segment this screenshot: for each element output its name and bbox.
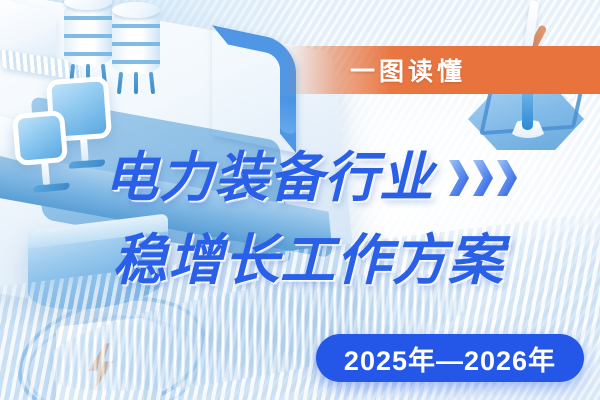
headline-text-line-1: 电力装备行业 [104,151,434,205]
chevron-group [448,158,518,198]
orange-ribbon-banner: 一图读懂 [284,46,600,94]
date-range-badge: 2025年—2026年 [316,334,584,382]
solar-panel-glass [12,110,68,166]
headline-block: 电力装备行业 [104,140,574,298]
headline-line-2: 稳增长工作方案 [112,222,574,298]
tank-body [64,2,112,66]
chevron-right-icon [496,158,518,198]
headline-text-line-2: 稳增长工作方案 [112,233,504,288]
chevron-right-icon [448,158,470,198]
poster-canvas: 一图读懂 电力装备行业 [0,0,600,400]
headline-line-1: 电力装备行业 [104,140,574,216]
tank-body [112,10,160,74]
tank-cap [112,2,160,18]
solar-panel-icon [12,110,68,166]
date-range-label: 2025年—2026年 [344,339,556,378]
chevron-right-icon [472,158,494,198]
tank-legs [116,72,156,94]
banner-label: 一图读懂 [350,52,466,88]
